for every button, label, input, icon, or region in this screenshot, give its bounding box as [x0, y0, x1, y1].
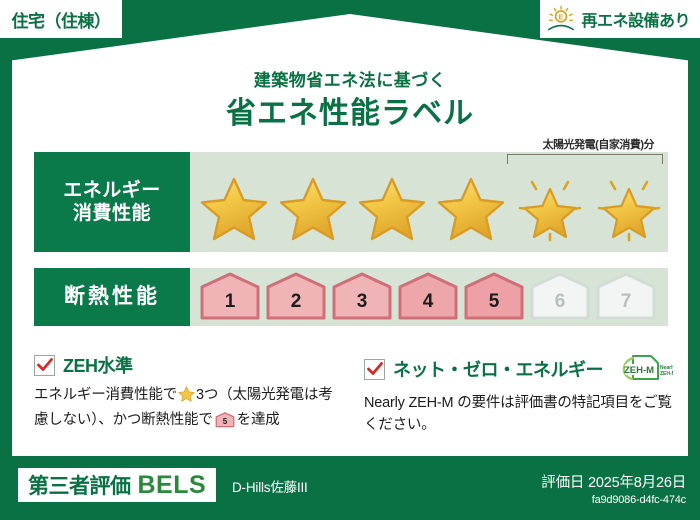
- solar-star-icon: [589, 173, 668, 245]
- label-panel: 建築物省エネ法に基づく 省エネ性能ラベル エネルギー 消費性能 太陽光発電(自家…: [12, 14, 688, 456]
- check-icon: [37, 358, 53, 372]
- solar-star-icon: [510, 173, 589, 245]
- building-name: D-Hills佐藤III: [232, 476, 308, 496]
- star-rating: [194, 170, 664, 248]
- insulation-label-text: 断熱性能: [64, 284, 160, 310]
- energy-performance-value: 太陽光発電(自家消費)分: [190, 152, 668, 252]
- insulation-level-3: 3: [330, 272, 394, 322]
- renewable-equipment-label: 再エネ設備あり: [581, 7, 690, 31]
- svg-text:ZEH-M: ZEH-M: [624, 365, 654, 376]
- insulation-level-6: 6: [528, 272, 592, 322]
- criterion-zeh-header: ZEH水準: [34, 352, 346, 378]
- insulation-level-4-value: 4: [396, 291, 460, 313]
- insulation-level-3-value: 3: [330, 291, 394, 313]
- energy-performance-label: 住宅（住棟） E 再エネ設備あり 建築: [0, 0, 700, 520]
- bels-badge: 第三者評価 BELS: [18, 468, 216, 502]
- solar-bracket: [507, 154, 663, 164]
- insulation-level-5-value: 5: [462, 291, 526, 313]
- insulation-level-5: 5: [462, 272, 526, 322]
- criterion-nze-header: ネット・ゼロ・エネルギー ZEH-M Nearly ZEH-M: [364, 352, 676, 386]
- insulation-level-1-value: 1: [198, 291, 262, 313]
- star-icon: [431, 173, 510, 245]
- zeh-m-logo-icon: ZEH-M Nearly ZEH-M: [611, 352, 673, 386]
- svg-text:ZEH-M: ZEH-M: [660, 371, 673, 377]
- star-icon: [352, 173, 431, 245]
- criterion-zeh-title: ZEH水準: [63, 352, 133, 378]
- criterion-nze-title: ネット・ゼロ・エネルギー: [393, 356, 603, 382]
- insulation-performance-label: 断熱性能: [34, 268, 190, 326]
- evaluation-date-value: 2025年8月26日: [588, 475, 686, 491]
- building-type-badge: 住宅（住棟）: [0, 0, 122, 38]
- evaluation-date-label: 評価日: [541, 475, 584, 491]
- criterion-zeh-body-part1: エネルギー消費性能で: [34, 387, 177, 403]
- insulation-level-7: 7: [594, 272, 658, 322]
- insulation-level-1: 1: [198, 272, 262, 322]
- label-title: 省エネ性能ラベル: [12, 88, 688, 132]
- svg-text:E: E: [559, 14, 564, 21]
- checkbox-zeh-standard[interactable]: [34, 355, 55, 376]
- insulation-performance-row: 断熱性能 1 2 3: [34, 268, 668, 326]
- inline-house-icon: 5: [215, 416, 235, 432]
- renewable-equipment-badge: E 再エネ設備あり: [540, 0, 700, 38]
- inline-star-icon: [178, 390, 195, 406]
- check-icon: [367, 362, 383, 376]
- criterion-zeh-standard: ZEH水準 エネルギー消費性能で3つ（太陽光発電は考慮しない）、かつ断熱性能で5…: [34, 352, 346, 436]
- insulation-level-scale: 1 2 3 4: [198, 270, 660, 324]
- insulation-level-2-value: 2: [264, 291, 328, 313]
- star-icon: [273, 173, 352, 245]
- solar-caption: 太陽光発電(自家消費)分: [543, 136, 654, 152]
- criterion-net-zero-energy: ネット・ゼロ・エネルギー ZEH-M Nearly ZEH-M Nearly Z…: [364, 352, 676, 437]
- insulation-performance-value: 1 2 3 4: [190, 268, 668, 326]
- criterion-zeh-body-part3: を達成: [237, 412, 280, 428]
- insulation-level-4: 4: [396, 272, 460, 322]
- third-party-label: 第三者評価: [28, 470, 131, 500]
- evaluation-id: fa9d9086-d4fc-474c: [541, 494, 686, 506]
- bels-label: BELS: [138, 471, 207, 500]
- energy-label-line1: エネルギー: [63, 179, 161, 202]
- building-type-label: 住宅（住棟）: [12, 7, 111, 32]
- energy-performance-label: エネルギー 消費性能: [34, 152, 190, 252]
- insulation-level-7-value: 7: [594, 291, 658, 313]
- energy-performance-row: エネルギー 消費性能 太陽光発電(自家消費)分: [34, 152, 668, 252]
- insulation-level-6-value: 6: [528, 291, 592, 313]
- checkbox-net-zero-energy[interactable]: [364, 359, 385, 380]
- star-icon: [194, 173, 273, 245]
- energy-label-line2: 消費性能: [73, 202, 151, 225]
- insulation-level-2: 2: [264, 272, 328, 322]
- criterion-nze-body: Nearly ZEH-M の要件は評価書の特記項目をご覧ください。: [364, 393, 676, 437]
- svg-text:5: 5: [222, 417, 227, 426]
- evaluation-info: 評価日 2025年8月26日 fa9d9086-d4fc-474c: [541, 471, 686, 506]
- sun-renewable-icon: E: [546, 5, 576, 33]
- criterion-zeh-body: エネルギー消費性能で3つ（太陽光発電は考慮しない）、かつ断熱性能で5を達成: [34, 385, 346, 436]
- evaluation-date: 評価日 2025年8月26日: [541, 471, 686, 492]
